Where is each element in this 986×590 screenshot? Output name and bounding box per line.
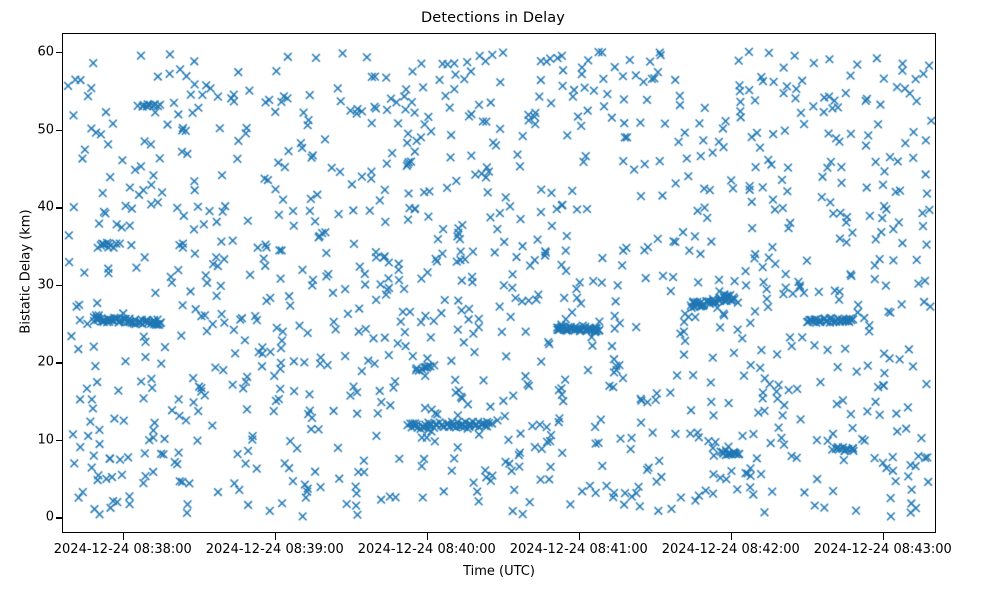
plot-area[interactable] <box>62 33 936 533</box>
x-tick-label: 2024-12-24 08:39:00 <box>206 542 344 557</box>
y-tick-label-group: 0102030405060 <box>0 0 54 590</box>
x-tick-label: 2024-12-24 08:38:00 <box>54 542 192 557</box>
y-tick-label: 40 <box>8 200 54 215</box>
y-tick-label: 60 <box>8 45 54 60</box>
y-tick-label: 50 <box>8 122 54 137</box>
y-tick-label: 30 <box>8 277 54 292</box>
x-tick-label: 2024-12-24 08:40:00 <box>358 542 496 557</box>
x-tick-mark <box>883 533 884 540</box>
x-tick-mark <box>123 533 124 540</box>
y-tick-label: 10 <box>8 432 54 447</box>
x-axis-label: Time (UTC) <box>62 564 936 579</box>
x-tick-mark <box>731 533 732 540</box>
x-tick-label: 2024-12-24 08:43:00 <box>814 542 952 557</box>
x-tick-label: 2024-12-24 08:42:00 <box>662 542 800 557</box>
y-tick-label: 20 <box>8 355 54 370</box>
scatter-series <box>63 34 936 533</box>
x-tick-label: 2024-12-24 08:41:00 <box>510 542 648 557</box>
x-tick-mark <box>275 533 276 540</box>
figure-canvas: Detections in Delay Bistatic Delay (km) … <box>0 0 986 590</box>
y-tick-label: 0 <box>8 510 54 525</box>
page-title: Detections in Delay <box>0 10 986 26</box>
x-tick-mark <box>579 533 580 540</box>
x-tick-mark <box>427 533 428 540</box>
